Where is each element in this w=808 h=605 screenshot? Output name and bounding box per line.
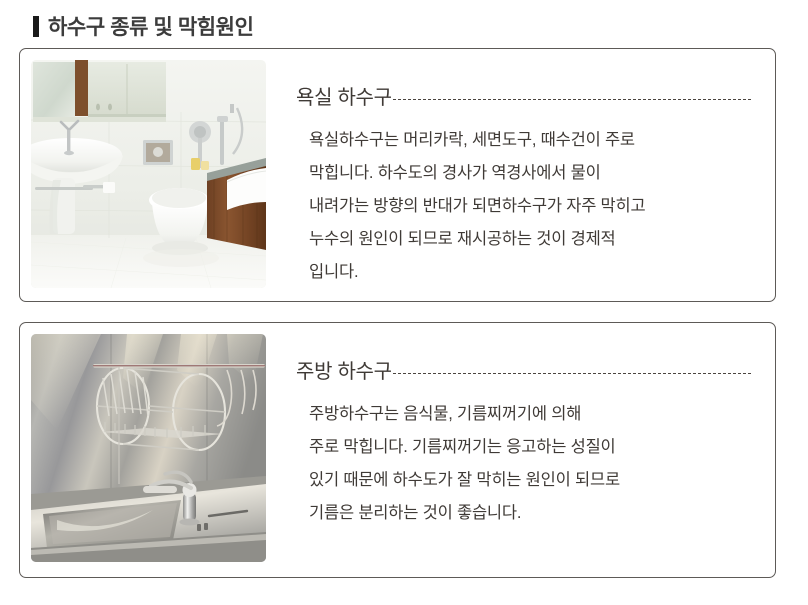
- card-kitchen-drain: 주방 하수구 주방하수구는 음식물, 기름찌꺼기에 의해 주로 막힙니다. 기름…: [19, 322, 776, 578]
- kitchen-photo-illustration: [31, 334, 266, 562]
- section-header-bathroom: 욕실 하수구: [296, 81, 751, 110]
- page-title-text: 하수구 종류 및 막힘원인: [48, 11, 254, 41]
- card-bathroom-drain: 욕실 하수구 욕실하수구는 머리카락, 세면도구, 때수건이 주로 막힙니다. …: [19, 48, 776, 302]
- body-line: 욕실하수구는 머리카락, 세면도구, 때수건이 주로: [309, 124, 751, 157]
- dashed-rule: [393, 99, 751, 100]
- body-line: 막힙니다. 하수도의 경사가 역경사에서 물이: [309, 157, 751, 190]
- bathroom-photo-illustration: [31, 60, 266, 288]
- card-inner: 주방 하수구 주방하수구는 음식물, 기름찌꺼기에 의해 주로 막힙니다. 기름…: [20, 323, 775, 577]
- body-line: 입니다.: [309, 256, 751, 289]
- body-line: 기름은 분리하는 것이 좋습니다.: [309, 497, 751, 530]
- bathroom-drain-photo: [31, 60, 266, 288]
- section-header-label: 주방 하수구: [296, 355, 392, 384]
- body-text-bathroom: 욕실하수구는 머리카락, 세면도구, 때수건이 주로 막힙니다. 하수도의 경사…: [296, 124, 751, 289]
- section-header-label: 욕실 하수구: [296, 81, 392, 110]
- section-header-kitchen: 주방 하수구: [296, 355, 751, 384]
- body-text-kitchen: 주방하수구는 음식물, 기름찌꺼기에 의해 주로 막힙니다. 기름찌꺼기는 응고…: [296, 398, 751, 530]
- body-line: 누수의 원인이 되므로 재시공하는 것이 경제적: [309, 223, 751, 256]
- text-column: 욕실 하수구 욕실하수구는 머리카락, 세면도구, 때수건이 주로 막힙니다. …: [266, 60, 775, 289]
- dashed-rule: [393, 373, 751, 374]
- kitchen-drain-photo: [31, 334, 266, 562]
- body-line: 있기 때문에 하수도가 잘 막히는 원인이 되므로: [309, 464, 751, 497]
- body-line: 주방하수구는 음식물, 기름찌꺼기에 의해: [309, 398, 751, 431]
- text-column: 주방 하수구 주방하수구는 음식물, 기름찌꺼기에 의해 주로 막힙니다. 기름…: [266, 334, 775, 530]
- page-title: 하수구 종류 및 막힘원인: [33, 11, 254, 41]
- title-bar-marker-icon: [33, 16, 39, 37]
- body-line: 주로 막힙니다. 기름찌꺼기는 응고하는 성질이: [309, 431, 751, 464]
- card-inner: 욕실 하수구 욕실하수구는 머리카락, 세면도구, 때수건이 주로 막힙니다. …: [20, 49, 775, 301]
- body-line: 내려가는 방향의 반대가 되면하수구가 자주 막히고: [309, 190, 751, 223]
